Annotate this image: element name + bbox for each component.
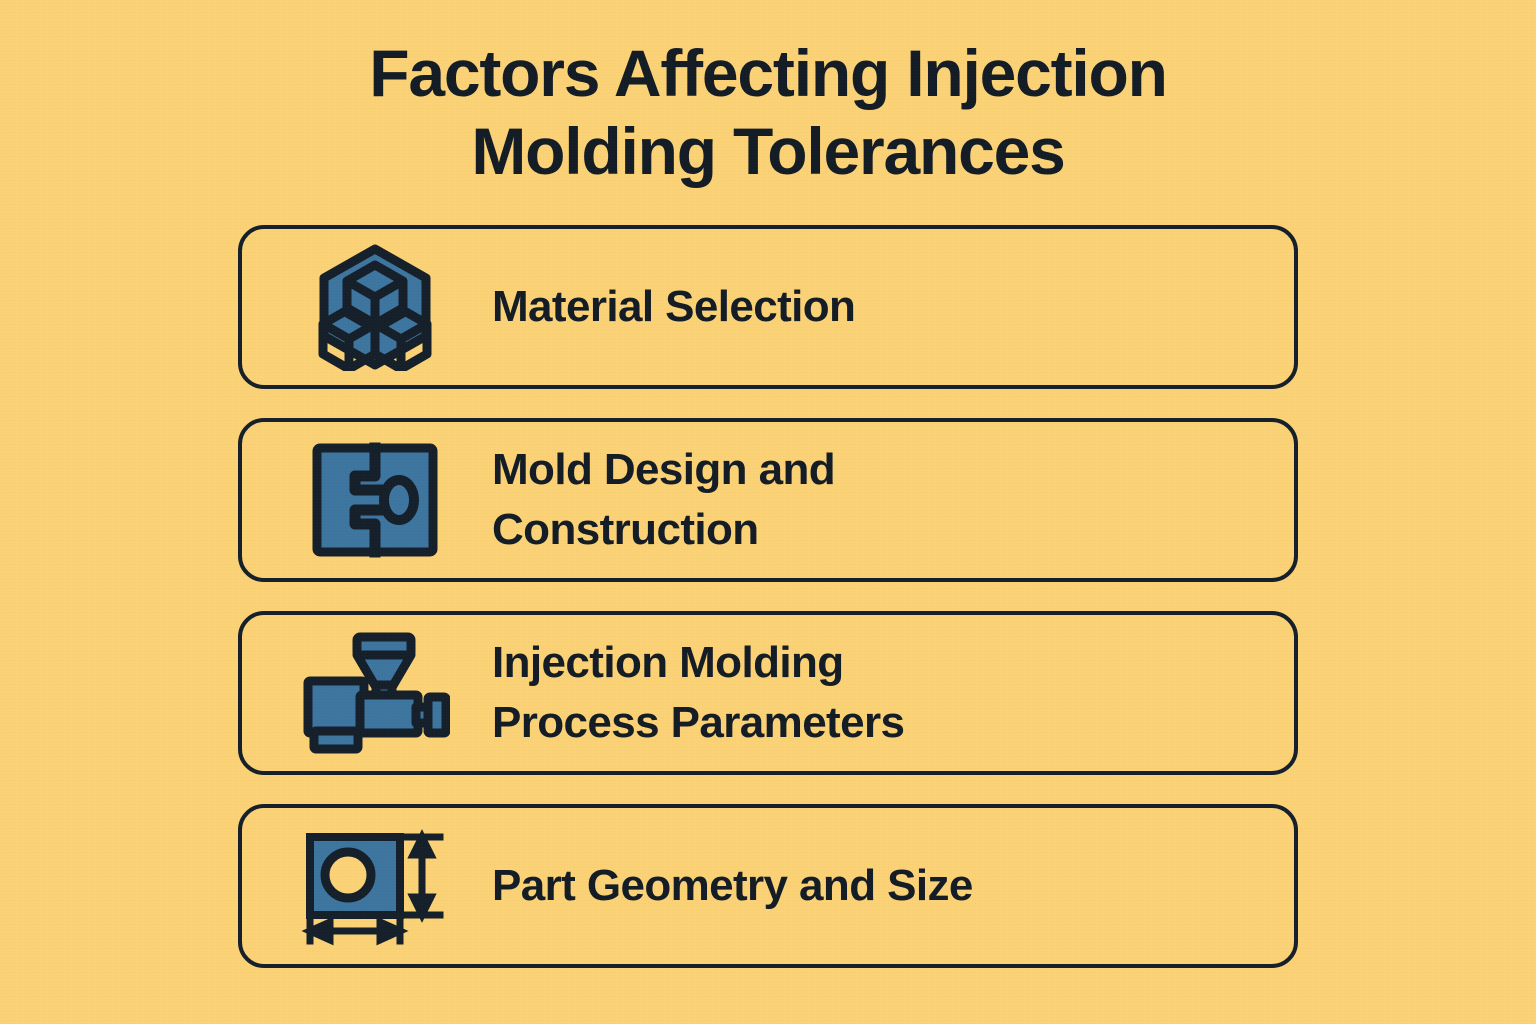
factor-card-mold-design-and-construction[interactable]: Mold Design and Construction xyxy=(238,418,1298,582)
factor-card-injection-molding-process-parameters[interactable]: Injection Molding Process Parameters xyxy=(238,611,1298,775)
factor-card-label-line: Injection Molding xyxy=(492,633,904,693)
page-title-line-2: Molding Tolerances xyxy=(0,112,1536,190)
mold-cavity-icon xyxy=(300,435,450,565)
factor-card-label: Mold Design and Construction xyxy=(492,440,835,560)
factor-card-label-line: Part Geometry and Size xyxy=(492,856,973,916)
factor-card-label-line: Process Parameters xyxy=(492,693,904,753)
hexagon-cubes-icon xyxy=(300,242,450,372)
page-title: Factors Affecting Injection Molding Tole… xyxy=(0,34,1536,190)
factor-card-label: Injection Molding Process Parameters xyxy=(492,633,904,753)
factor-card-label-line: Mold Design and xyxy=(492,440,835,500)
factor-card-label: Material Selection xyxy=(492,277,855,337)
factor-card-material-selection[interactable]: Material Selection xyxy=(238,225,1298,389)
factor-card-label-line: Construction xyxy=(492,500,835,560)
factor-card-list: Material Selection Mold Design and Const… xyxy=(238,225,1298,968)
infographic-page: Factors Affecting Injection Molding Tole… xyxy=(0,0,1536,1024)
injection-molding-machine-icon xyxy=(300,628,450,758)
page-title-line-1: Factors Affecting Injection xyxy=(0,34,1536,112)
factor-card-part-geometry-and-size[interactable]: Part Geometry and Size xyxy=(238,804,1298,968)
factor-card-label: Part Geometry and Size xyxy=(492,856,973,916)
factor-card-label-line: Material Selection xyxy=(492,277,855,337)
part-dimensions-icon xyxy=(300,821,450,951)
